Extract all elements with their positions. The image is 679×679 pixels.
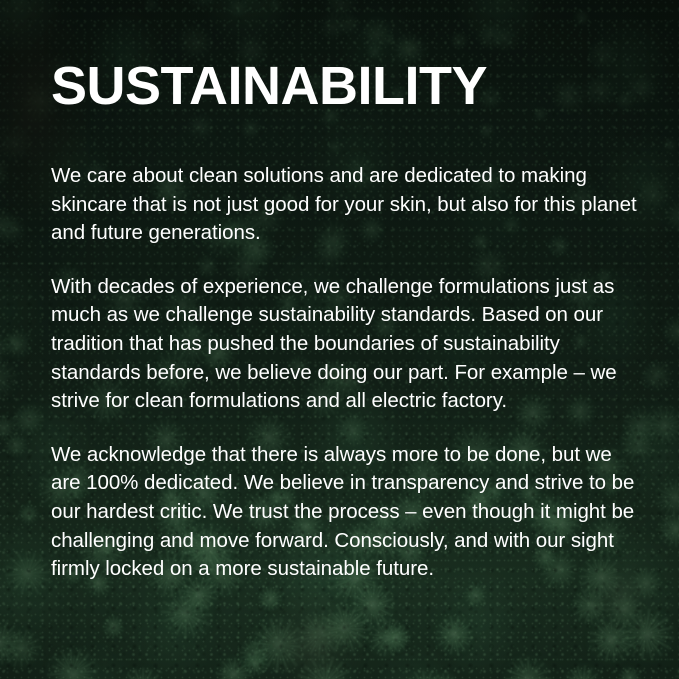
page-title: SUSTAINABILITY — [51, 57, 487, 115]
body-copy: We care about clean solutions and are de… — [51, 162, 643, 584]
paragraph-experience: With decades of experience, we challenge… — [51, 273, 643, 416]
paragraph-intro: We care about clean solutions and are de… — [51, 162, 643, 248]
sustainability-banner: SUSTAINABILITY We care about clean solut… — [0, 0, 679, 679]
content-block: SUSTAINABILITY We care about clean solut… — [51, 0, 643, 679]
paragraph-commitment: We acknowledge that there is always more… — [51, 441, 643, 584]
